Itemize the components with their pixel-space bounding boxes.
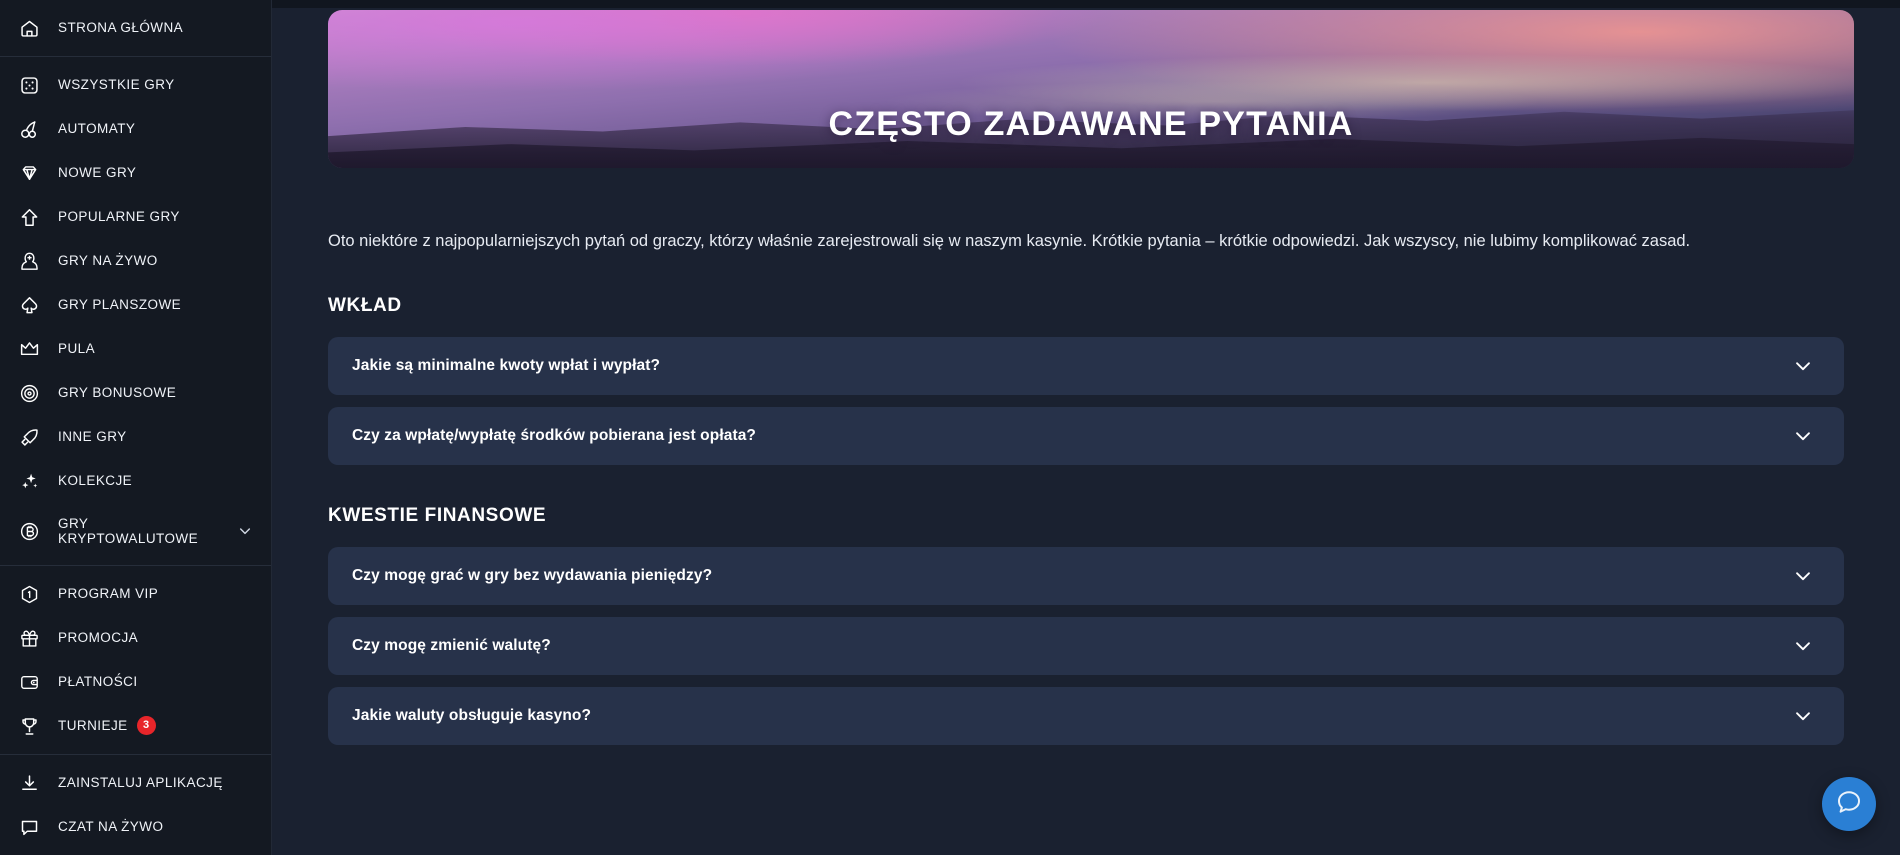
sidebar-item-label: CZAT NA ŻYWO [58,819,163,834]
sidebar: STRONA GŁÓWNA WSZYSTKIE GRY AUTOMATY [0,0,272,855]
sidebar-item-jackpot[interactable]: PULA [0,327,271,371]
bitcoin-icon [16,518,42,544]
live-chat-fab[interactable] [1822,777,1876,831]
sidebar-group-main: STRONA GŁÓWNA [0,0,271,56]
download-icon [16,770,42,796]
sidebar-item-live-chat[interactable]: CZAT NA ŻYWO [0,805,271,849]
sidebar-group-utility: ZAINSTALUJ APLIKACJĘ CZAT NA ŻYWO [0,754,271,855]
faq-list-deposit: Jakie są minimalne kwoty wpłat i wypłat?… [328,337,1844,465]
sidebar-item-install-app[interactable]: ZAINSTALUJ APLIKACJĘ [0,761,271,805]
faq-question: Czy za wpłatę/wypłatę środków pobierana … [352,427,756,445]
trophy-icon [16,713,42,739]
content-wrapper: Oto niektóre z najpopularniejszych pytań… [272,228,1900,745]
faq-item[interactable]: Czy mogę grać w gry bez wydawania pienię… [328,547,1844,605]
sidebar-item-label: PŁATNOŚCI [58,674,138,689]
sidebar-item-label: AUTOMATY [58,121,135,136]
sidebar-item-label: WSZYSTKIE GRY [58,77,175,92]
sidebar-item-new-games[interactable]: NOWE GRY [0,151,271,195]
chevron-down-icon[interactable] [237,523,253,539]
chevron-down-icon[interactable] [1792,635,1814,657]
faq-item[interactable]: Jakie waluty obsługuje kasyno? [328,687,1844,745]
page-banner: CZĘSTO ZADAWANE PYTANIA [328,10,1854,168]
sidebar-item-popular-games[interactable]: POPULARNE GRY [0,195,271,239]
sidebar-item-payments[interactable]: PŁATNOŚCI [0,660,271,704]
sidebar-item-label: PROMOCJA [58,630,138,645]
dice-icon [16,72,42,98]
sidebar-item-tournaments[interactable]: TURNIEJE 3 [0,704,271,748]
sidebar-item-bonus-games[interactable]: GRY BONUSOWE [0,371,271,415]
chevron-down-icon[interactable] [1792,705,1814,727]
sidebar-item-label: KOLEKCJE [58,473,132,488]
sparkles-icon [16,468,42,494]
faq-item[interactable]: Czy mogę zmienić walutę? [328,617,1844,675]
sidebar-item-collections[interactable]: KOLEKCJE [0,459,271,503]
section-title-financial: KWESTIE FINANSOWE [328,505,1844,527]
sidebar-item-label: STRONA GŁÓWNA [58,20,183,35]
sidebar-item-label: INNE GRY [58,429,127,444]
sidebar-item-other-games[interactable]: INNE GRY [0,415,271,459]
faq-question: Czy mogę grać w gry bez wydawania pienię… [352,567,712,585]
chip-icon [16,380,42,406]
crown-icon [16,336,42,362]
page-title: CZĘSTO ZADAWANE PYTANIA [328,105,1854,144]
sidebar-item-label: GRY KRYPTOWALUTOWE [58,516,198,546]
gift-icon [16,625,42,651]
app-root: STRONA GŁÓWNA WSZYSTKIE GRY AUTOMATY [0,0,1900,855]
intro-paragraph: Oto niektóre z najpopularniejszych pytań… [328,228,1828,255]
faq-question: Czy mogę zmienić walutę? [352,637,551,655]
section-title-deposit: WKŁAD [328,295,1844,317]
sidebar-item-vip-program[interactable]: PROGRAM VIP [0,572,271,616]
chat-bubble-icon [1835,788,1863,821]
main-content: CZĘSTO ZADAWANE PYTANIA Oto niektóre z n… [272,0,1900,855]
sidebar-item-home[interactable]: STRONA GŁÓWNA [0,6,271,50]
sidebar-item-promotion[interactable]: PROMOCJA [0,616,271,660]
sidebar-item-table-games[interactable]: GRY PLANSZOWE [0,283,271,327]
sidebar-item-label: GRY BONUSOWE [58,385,176,400]
sidebar-item-label: ZAINSTALUJ APLIKACJĘ [58,775,223,790]
spade-icon [16,292,42,318]
faq-question: Jakie są minimalne kwoty wpłat i wypłat? [352,357,660,375]
top-strip [272,0,1900,8]
sidebar-item-label: PROGRAM VIP [58,586,158,601]
faq-item[interactable]: Jakie są minimalne kwoty wpłat i wypłat? [328,337,1844,395]
faq-item[interactable]: Czy za wpłatę/wypłatę środków pobierana … [328,407,1844,465]
cherries-icon [16,116,42,142]
sidebar-group-account: PROGRAM VIP PROMOCJA PŁATNOŚCI TURNIEJE [0,565,271,754]
live-dealer-icon [16,248,42,274]
diamond-icon [16,160,42,186]
sidebar-item-slots[interactable]: AUTOMATY [0,107,271,151]
vip-hex-icon [16,581,42,607]
sidebar-item-label: GRY PLANSZOWE [58,297,181,312]
sidebar-item-all-games[interactable]: WSZYSTKIE GRY [0,63,271,107]
chat-bubble-icon [16,814,42,840]
chevron-down-icon[interactable] [1792,425,1814,447]
faq-question: Jakie waluty obsługuje kasyno? [352,707,591,725]
chevron-down-icon[interactable] [1792,565,1814,587]
sidebar-item-live-games[interactable]: GRY NA ŻYWO [0,239,271,283]
faq-list-financial: Czy mogę grać w gry bez wydawania pienię… [328,547,1844,745]
status-badge: 3 [137,716,156,735]
wallet-icon [16,669,42,695]
sidebar-item-label: TURNIEJE [58,718,128,733]
arrow-up-icon [16,204,42,230]
rocket-icon [16,424,42,450]
sidebar-item-label: PULA [58,341,95,356]
sidebar-item-label: GRY NA ŻYWO [58,253,158,268]
sidebar-group-games: WSZYSTKIE GRY AUTOMATY NOWE GRY POPULARN… [0,56,271,565]
home-icon [16,15,42,41]
sidebar-item-crypto-games[interactable]: GRY KRYPTOWALUTOWE [0,503,271,559]
sidebar-item-label: POPULARNE GRY [58,209,180,224]
chevron-down-icon[interactable] [1792,355,1814,377]
sidebar-item-label: NOWE GRY [58,165,136,180]
